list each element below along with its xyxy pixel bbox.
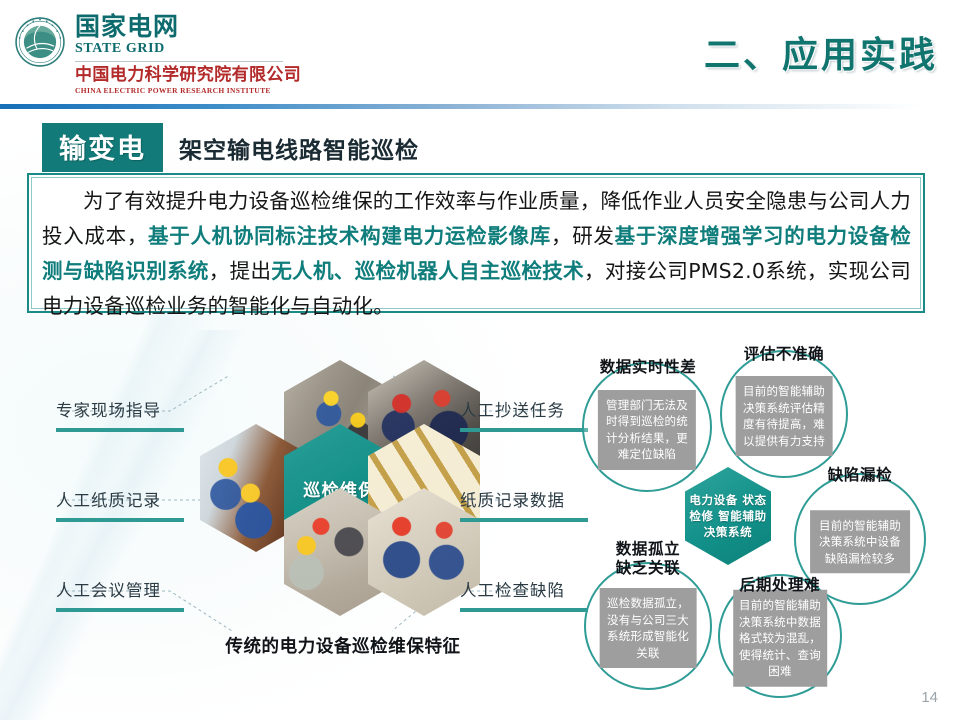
feature-underline	[460, 608, 588, 612]
bubble-data-realtime: 管理部门无法及时得到巡检的统计分析结果，更难定位缺陷	[582, 362, 712, 492]
page-title: 二、应用实践	[704, 26, 938, 78]
slide-header: 国家电网 STATE GRID 中国电力科学研究院有限公司 CHINA ELEC…	[0, 0, 960, 103]
summary-seg-3: ，提出	[209, 259, 272, 283]
feature-underline	[460, 518, 588, 522]
header-divider	[0, 104, 960, 109]
hub-label: 电力设备 状态检修 智能辅助 决策系统	[685, 492, 771, 540]
diagram-caption: 传统的电力设备巡检维保特征	[198, 633, 488, 658]
feature-label: 人工会议管理	[56, 577, 206, 601]
traditional-inspection-diagram: 巡检维保 专家现场指导 人工纸质记录 人工会议管理 人工抄送任务 纸质记录数据	[20, 345, 580, 675]
pain-points-diagram: 管理部门无法及时得到巡检的统计分析结果，更难定位缺陷 数据实时性差 目前的智能辅…	[572, 340, 960, 700]
feature-manual-meeting-management: 人工会议管理	[56, 577, 206, 612]
section-badge: 输变电	[42, 123, 163, 172]
bubble-title-post-processing: 后期处理难	[722, 576, 838, 595]
summary-paragraph: 为了有效提升电力设备巡检维保的工作效率与作业质量，降低作业人员安全隐患与公司人力…	[29, 175, 923, 324]
bubble-evaluation-inaccurate: 目前的智能辅助决策系统评估精度有待提高，难以提供有力支持	[720, 350, 848, 478]
hexagon-cluster: 巡检维保	[200, 360, 480, 630]
page-number: 14	[921, 689, 938, 706]
bubble-title-evaluation-inaccurate: 评估不准确	[724, 345, 844, 364]
logo-divider	[75, 61, 283, 62]
logo-company-cn: 国家电网	[75, 14, 301, 40]
logo-company-en: STATE GRID	[75, 40, 301, 58]
bubble-body: 巡检数据孤立，没有与公司三大系统形成智能化关联	[600, 588, 697, 668]
summary-highlight-3: 无人机、巡检机器人自主巡检技术	[271, 259, 584, 283]
state-grid-emblem-icon	[14, 16, 66, 68]
bubble-title-data-isolated: 数据孤立 缺乏关联	[590, 540, 706, 578]
bubble-body: 目前的智能辅助决策系统中设备缺陷漏检较多	[810, 510, 910, 574]
logo-wordmark: 国家电网 STATE GRID 中国电力科学研究院有限公司 CHINA ELEC…	[75, 14, 301, 96]
bubble-title-defect-missed: 缺陷漏检	[798, 466, 922, 485]
company-logo: 国家电网 STATE GRID 中国电力科学研究院有限公司 CHINA ELEC…	[14, 14, 301, 96]
section-subtitle: 架空输电线路智能巡检	[179, 131, 419, 165]
bubble-data-isolated: 巡检数据孤立，没有与公司三大系统形成智能化关联	[584, 562, 712, 690]
feature-label: 人工纸质记录	[56, 487, 206, 511]
slide-canvas: 国家电网 STATE GRID 中国电力科学研究院有限公司 CHINA ELEC…	[0, 0, 960, 720]
summary-box: 为了有效提升电力设备巡检维保的工作效率与作业质量，降低作业人员安全隐患与公司人力…	[27, 173, 925, 313]
feature-underline	[56, 518, 184, 522]
feature-underline	[56, 428, 184, 432]
summary-seg-2: ，研发	[551, 224, 615, 248]
feature-underline	[56, 608, 184, 612]
feature-underline	[460, 428, 588, 432]
feature-manual-paper-record: 人工纸质记录	[56, 487, 206, 522]
bubble-title-data-realtime: 数据实时性差	[586, 358, 710, 377]
section-heading: 输变电 架空输电线路智能巡检	[42, 123, 419, 172]
bubble-body: 目前的智能辅助决策系统评估精度有待提高，难以提供有力支持	[736, 376, 833, 456]
feature-label: 专家现场指导	[56, 397, 206, 421]
bubble-body: 目前的智能辅助决策系统中数据格式较为混乱，使得统计、查询困难	[733, 590, 827, 687]
logo-institute-cn: 中国电力科学研究院有限公司	[75, 66, 301, 86]
feature-expert-onsite-guidance: 专家现场指导	[56, 397, 206, 432]
bubble-body: 管理部门无法及时得到巡检的统计分析结果，更难定位缺陷	[598, 390, 696, 470]
summary-highlight-1: 基于人机协同标注技术构建电力运检影像库	[148, 224, 551, 248]
logo-institute-en: CHINA ELECTRIC POWER RESEARCH INSTITUTE	[75, 86, 301, 96]
